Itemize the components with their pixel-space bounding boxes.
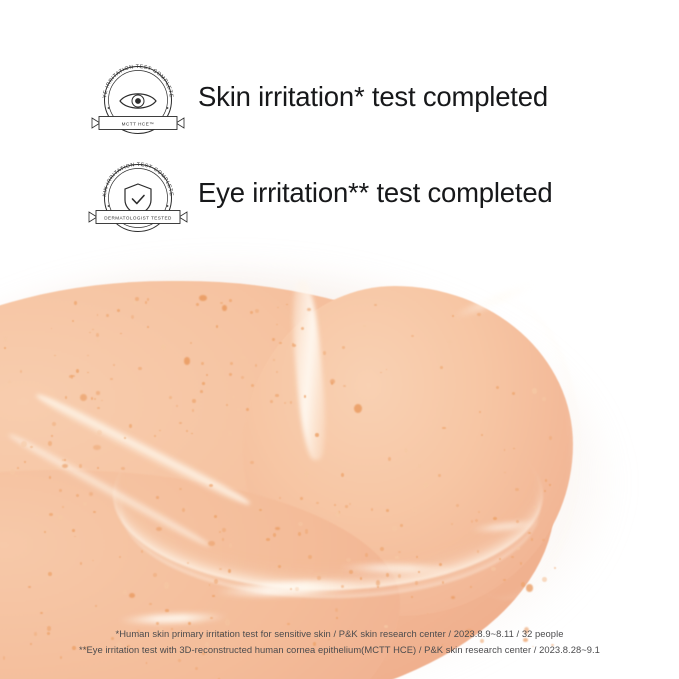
badge-ribbon-text: MCTT HCE™ <box>122 121 155 126</box>
badge-ribbon: DERMATOLOGIST TESTED <box>89 211 187 224</box>
footnote-line-2: **Eye irritation test with 3D-reconstruc… <box>0 642 679 658</box>
headline-eye-irritation: Eye irritation** test completed <box>198 177 553 209</box>
skin-irritation-badge: SKIN IRRITATION TEST COMPLETED DERMATOLO… <box>86 154 190 240</box>
footnote-block: *Human skin primary irritation test for … <box>0 626 679 658</box>
footnote-line-1: *Human skin primary irritation test for … <box>0 626 679 642</box>
badge-ribbon: MCTT HCE™ <box>92 117 184 130</box>
eye-irritation-badge: EYE IRRITATION TEST COMPLETED MCTT HCE™ <box>86 56 190 142</box>
marketing-image-canvas: EYE IRRITATION TEST COMPLETED MCTT HCE™ <box>0 0 679 679</box>
badge-ribbon-text: DERMATOLOGIST TESTED <box>104 215 172 220</box>
headline-skin-irritation: Skin irritation* test completed <box>198 81 548 113</box>
